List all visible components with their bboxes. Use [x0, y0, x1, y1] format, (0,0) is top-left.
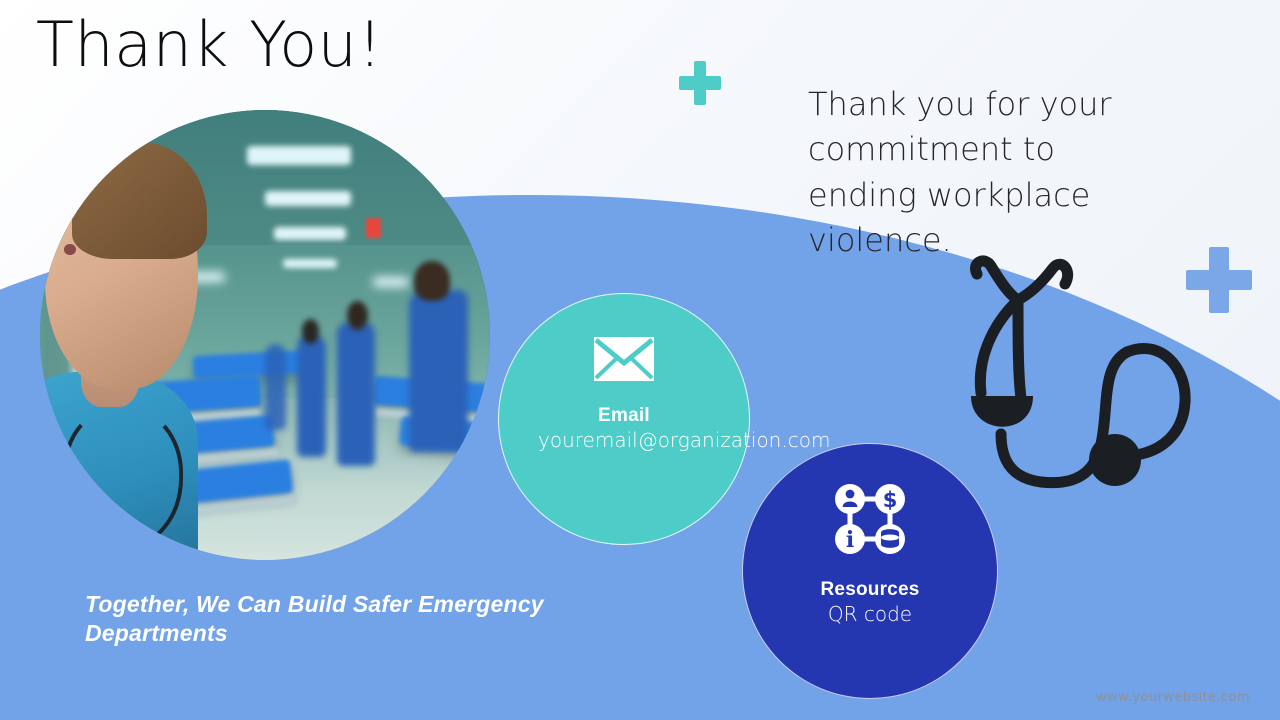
slide-canvas: Thank You! Thank you for your commitment… — [0, 0, 1280, 720]
photo-staff-figure — [337, 322, 375, 466]
photo-wall-lamp — [373, 277, 409, 288]
website-url: www.yourwebsite.com — [1096, 690, 1250, 705]
photo-staff-figure — [409, 290, 468, 452]
photo-nurse-mouth — [64, 244, 75, 255]
nurse-hospital-photo — [40, 110, 490, 560]
medical-cross-icon — [679, 61, 721, 105]
contact-title: Resources — [821, 579, 920, 601]
stethoscope-icon — [955, 248, 1210, 498]
page-title: Thank You! — [36, 12, 383, 77]
contact-card-resources[interactable]: $ i Resources QR code — [742, 443, 998, 699]
photo-nurse-eye — [58, 219, 66, 226]
photo-ceiling-lamp — [274, 227, 346, 240]
contact-card-email[interactable]: Email youremail@organization.com — [498, 293, 750, 545]
photo-staff-head — [302, 319, 319, 343]
resources-network-icon: $ i — [833, 482, 907, 561]
photo-wall-sign — [366, 218, 380, 238]
contact-value: QR code — [770, 601, 970, 627]
envelope-icon — [593, 336, 655, 387]
photo-staff-figure — [297, 335, 326, 457]
photo-ceiling-lamp — [283, 259, 337, 269]
photo-ceiling-lamp — [247, 146, 351, 165]
photo-ceiling-lamp — [265, 191, 351, 206]
photo-nurse-brow — [57, 210, 68, 215]
photo-staff-head — [347, 301, 368, 330]
contact-title: Email — [598, 405, 650, 427]
svg-text:i: i — [846, 527, 854, 553]
contact-value: youremail@organization.com — [538, 427, 710, 453]
photo-staff-figure — [265, 344, 286, 430]
photo-staff-head — [414, 261, 450, 302]
tagline: Together, We Can Build Safer Emergency D… — [85, 590, 585, 649]
svg-text:$: $ — [883, 488, 898, 512]
photo-nurse-stethoscope-bell — [112, 524, 144, 551]
lead-paragraph: Thank you for your commitment to ending … — [808, 82, 1168, 264]
